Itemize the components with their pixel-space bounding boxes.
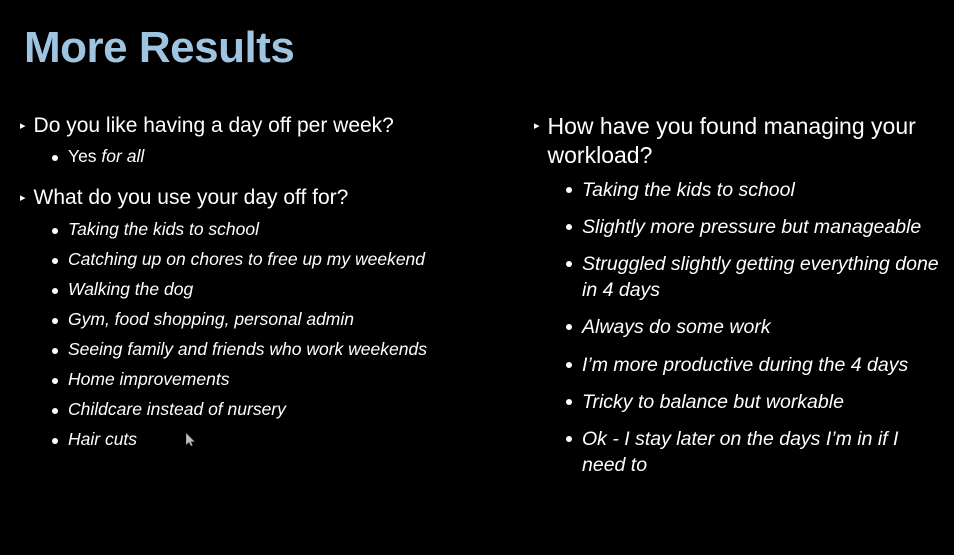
question-row: ▸ Do you like having a day off per week? <box>20 112 490 139</box>
left-column: ▸ Do you like having a day off per week?… <box>20 112 490 467</box>
triangle-right-icon: ▸ <box>20 184 26 204</box>
bullet-dot-icon <box>566 362 572 368</box>
bullet-dot-icon <box>52 155 58 161</box>
answer-text: Catching up on chores to free up my week… <box>68 248 425 271</box>
answer-text: Always do some work <box>582 314 771 340</box>
bullet-dot-icon <box>566 324 572 330</box>
answer-text: Taking the kids to school <box>68 218 259 241</box>
answer-text: Walking the dog <box>68 278 193 301</box>
list-item: Hair cuts <box>52 428 490 451</box>
right-column: ▸ How have you found managing your workl… <box>534 112 944 494</box>
list-item: Childcare instead of nursery <box>52 398 490 421</box>
list-item: Taking the kids to school <box>566 177 944 203</box>
bullet-dot-icon <box>52 378 58 384</box>
list-item: Tricky to balance but workable <box>566 389 944 415</box>
list-item: Taking the kids to school <box>52 218 490 241</box>
question-block: ▸ Do you like having a day off per week?… <box>20 112 490 168</box>
answer-text: Yes for all <box>68 145 144 168</box>
bullet-dot-icon <box>566 187 572 193</box>
list-item: Struggled slightly getting everything do… <box>566 251 944 303</box>
question-text: Do you like having a day off per week? <box>34 112 394 139</box>
bullet-dot-icon <box>566 399 572 405</box>
list-item: Walking the dog <box>52 278 490 301</box>
list-item: Always do some work <box>566 314 944 340</box>
answer-list: Taking the kids to school Slightly more … <box>566 177 944 478</box>
list-item: Home improvements <box>52 368 490 391</box>
triangle-right-icon: ▸ <box>20 112 26 132</box>
bullet-dot-icon <box>52 438 58 444</box>
bullet-dot-icon <box>52 318 58 324</box>
answer-list: Taking the kids to school Catching up on… <box>52 218 490 452</box>
answer-text: I’m more productive during the 4 days <box>582 352 908 378</box>
answer-emphasis: Yes <box>68 146 97 166</box>
bullet-dot-icon <box>566 261 572 267</box>
list-item: I’m more productive during the 4 days <box>566 352 944 378</box>
slide-canvas: More Results ▸ Do you like having a day … <box>0 0 954 555</box>
page-title: More Results <box>24 26 294 70</box>
question-block: ▸ How have you found managing your workl… <box>534 112 944 478</box>
list-item: Catching up on chores to free up my week… <box>52 248 490 271</box>
question-row: ▸ What do you use your day off for? <box>20 184 490 211</box>
question-block: ▸ What do you use your day off for? Taki… <box>20 184 490 451</box>
answer-text: Hair cuts <box>68 428 137 451</box>
bullet-dot-icon <box>52 348 58 354</box>
answer-text: Tricky to balance but workable <box>582 389 844 415</box>
list-item: Seeing family and friends who work weeke… <box>52 338 490 361</box>
answer-text: Ok - I stay later on the days I’m in if … <box>582 426 944 478</box>
list-item: Yes for all <box>52 145 490 168</box>
list-item: Gym, food shopping, personal admin <box>52 308 490 331</box>
question-row: ▸ How have you found managing your workl… <box>534 112 944 171</box>
question-text: How have you found managing your workloa… <box>548 112 944 171</box>
answer-text: Slightly more pressure but manageable <box>582 214 921 240</box>
bullet-dot-icon <box>566 436 572 442</box>
answer-text: Home improvements <box>68 368 229 391</box>
bullet-dot-icon <box>52 228 58 234</box>
answer-text: Struggled slightly getting everything do… <box>582 251 944 303</box>
list-item: Slightly more pressure but manageable <box>566 214 944 240</box>
answer-text: Taking the kids to school <box>582 177 795 203</box>
bullet-dot-icon <box>52 288 58 294</box>
answer-text: Gym, food shopping, personal admin <box>68 308 354 331</box>
answer-list: Yes for all <box>52 145 490 168</box>
list-item: Ok - I stay later on the days I’m in if … <box>566 426 944 478</box>
bullet-dot-icon <box>52 408 58 414</box>
triangle-right-icon: ▸ <box>534 112 540 132</box>
answer-text: Childcare instead of nursery <box>68 398 286 421</box>
answer-rest: for all <box>97 146 145 166</box>
question-text: What do you use your day off for? <box>34 184 349 211</box>
answer-text: Seeing family and friends who work weeke… <box>68 338 427 361</box>
bullet-dot-icon <box>52 258 58 264</box>
bullet-dot-icon <box>566 224 572 230</box>
